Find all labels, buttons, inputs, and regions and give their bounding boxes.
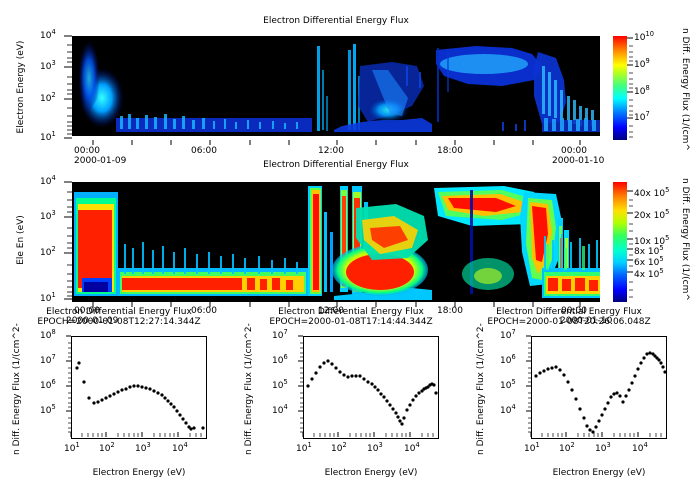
panel-top-plot-area: [72, 36, 600, 140]
panel-top-colorbar-tick-1: 109: [634, 60, 650, 70]
panel-top-ytick-3: 103: [40, 62, 56, 72]
spectrum-2-title: Electron Differential Energy Flux: [246, 307, 456, 317]
spectrum-panel-1: Electron Differential Energy Flux EPOCH=…: [0, 305, 232, 492]
spectrum-1-xtick-2: 103: [135, 444, 151, 454]
spectrum-3-xlabel: Electron Energy (eV): [526, 468, 672, 478]
panel-top-xtick-4: 00:00: [561, 146, 587, 156]
panel-top-xtick-2: 12:00: [318, 146, 344, 156]
spectrum-1-xlabel: Electron Energy (eV): [66, 468, 212, 478]
spectrum-3-ytick-2: 105: [500, 381, 516, 391]
spectrum-3-plot-area: [531, 336, 667, 439]
spectrum-3-xtick-0: 101: [524, 444, 540, 454]
panel-mid-ytick-1: 101: [40, 294, 56, 304]
spectrum-1-ylabel: n Diff. Energy Flux (1/(cm^2-: [12, 315, 22, 455]
spectrum-3-ytick-1: 106: [500, 356, 516, 366]
panel-top-xtick-0: 00:00: [74, 146, 100, 156]
spectrum-3-title: Electron Differential Energy Flux: [464, 307, 674, 317]
panel-top-colorbar-tick-2: 108: [634, 87, 650, 97]
panel-top-ylabel: Electron Energy (eV): [16, 32, 26, 142]
spectrum-1-ytick-3: 105: [40, 406, 56, 416]
spectrum-3-xtick-1: 102: [559, 444, 575, 454]
spectrum-1-title: Electron Differential Energy Flux: [14, 307, 224, 317]
spectrum-2-ytick-0: 107: [272, 331, 288, 341]
panel-mid-title: Electron Differential Energy Flux: [0, 160, 672, 170]
spectrum-panel-3: Electron Differential Energy Flux EPOCH=…: [464, 305, 697, 492]
panel-top-colorbar: [613, 36, 627, 140]
panel-mid-ylabel: Ele En (eV): [16, 195, 26, 285]
spectrum-1-ytick-2: 106: [40, 381, 56, 391]
panel-mid-colorbar: [613, 182, 627, 302]
panel-mid-colorbar-tick-1: 20x 105: [634, 211, 669, 221]
panel-mid-ytick-2: 102: [40, 248, 56, 258]
panel-mid-colorbar-tick-0: 40x 105: [634, 189, 669, 199]
panel-mid-ytick-3: 103: [40, 212, 56, 222]
panel-mid-colorbar-tick-5: 4x 105: [634, 270, 664, 280]
panel-top-title: Electron Differential Energy Flux: [0, 16, 672, 26]
spectrum-2-plot-area: [303, 336, 439, 439]
spectrum-1-ytick-0: 108: [40, 331, 56, 341]
panel-top: Electron Differential Energy Flux Electr…: [0, 0, 697, 178]
spectrum-2-xtick-2: 103: [367, 444, 383, 454]
spectrum-3-ylabel: n Diff. Energy Flux (1/(cm^2-: [476, 315, 486, 455]
panel-top-ytick-2: 102: [40, 94, 56, 104]
panel-mid-colorbar-label: n Diff. Energy Flux (1/(cm^: [680, 178, 690, 318]
spectrum-1-plot-area: [71, 336, 207, 439]
spectrum-1-ytick-1: 107: [40, 356, 56, 366]
spectrum-1-epoch: EPOCH=2000-01-08T12:27:14.344Z: [14, 317, 224, 327]
panel-mid-colorbar-tick-2: 10x 105: [634, 237, 669, 247]
spectrum-2-ylabel: n Diff. Energy Flux (1/(cm^2-: [244, 315, 254, 455]
spectrum-3-epoch: EPOCH=2000-01-08T20:26:06.048Z: [464, 317, 674, 327]
panel-top-ytick-1: 101: [40, 133, 56, 143]
panel-top-xtick-3: 18:00: [437, 146, 463, 156]
spectrum-panel-2: Electron Differential Energy Flux EPOCH=…: [232, 305, 464, 492]
spectrum-2-xtick-0: 101: [296, 444, 312, 454]
spectrum-2-ytick-1: 106: [272, 356, 288, 366]
spectrum-3-xtick-3: 104: [632, 444, 648, 454]
spectrum-3-xtick-2: 103: [595, 444, 611, 454]
panel-top-colorbar-label: n Diff. Energy Flux (1/(cm^: [680, 28, 690, 168]
panel-top-colorbar-tick-0: 1010: [634, 33, 654, 43]
spectrum-1-xtick-3: 104: [172, 444, 188, 454]
spectrum-2-xlabel: Electron Energy (eV): [298, 468, 444, 478]
spectrum-2-xtick-1: 102: [331, 444, 347, 454]
spectrum-1-xtick-1: 102: [99, 444, 115, 454]
spectrum-2-ytick-3: 104: [272, 406, 288, 416]
spectrum-3-ytick-3: 104: [500, 406, 516, 416]
spectrum-3-ytick-0: 107: [500, 331, 516, 341]
panel-top-colorbar-tick-3: 107: [634, 113, 650, 123]
spectrum-2-ytick-2: 105: [272, 381, 288, 391]
spectrum-1-xtick-0: 101: [64, 444, 80, 454]
panel-top-ytick-4: 104: [40, 31, 56, 41]
panel-mid-plot-area: [72, 182, 600, 302]
panel-mid: Electron Differential Energy Flux Ele En…: [0, 160, 697, 320]
spectrum-2-epoch: EPOCH=2000-01-08T17:14:44.344Z: [246, 317, 456, 327]
panel-top-xtick-1: 06:00: [191, 146, 217, 156]
panel-mid-ytick-4: 104: [40, 177, 56, 187]
spectrum-2-xtick-3: 104: [404, 444, 420, 454]
